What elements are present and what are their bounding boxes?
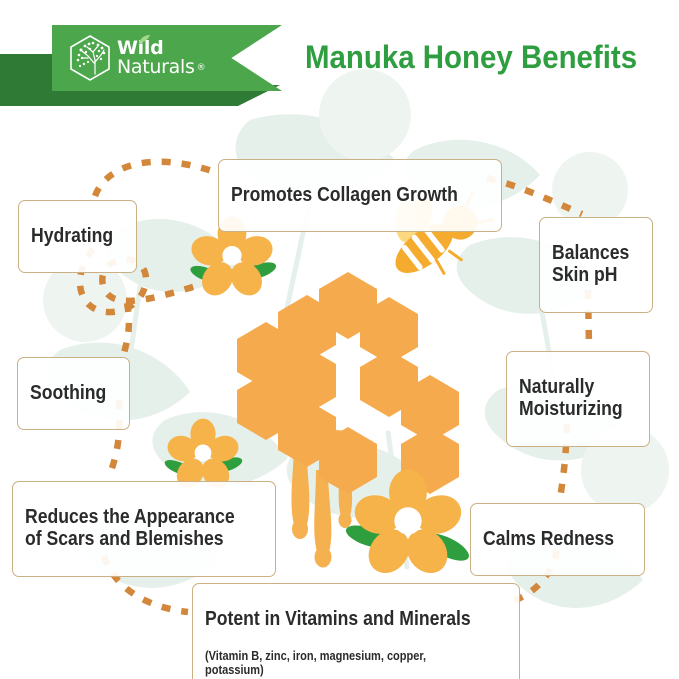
brand-line-2: Naturals: [117, 58, 195, 77]
benefit-label: Hydrating: [31, 225, 113, 247]
benefit-label: Naturally Moisturizing: [519, 376, 623, 421]
benefit-reduces-scars[interactable]: Reduces the Appearance of Scars and Blem…: [12, 481, 276, 577]
brand-wordmark: Wild Naturals ®: [117, 39, 195, 77]
page-title: Manuka Honey Benefits: [305, 39, 637, 76]
leaf-accent-icon: [139, 35, 150, 43]
benefit-label: Soothing: [30, 382, 106, 404]
infographic-canvas: Wild Naturals ® Manuka Honey Benefits Hy…: [0, 0, 679, 679]
brand-banner[interactable]: Wild Naturals ®: [52, 25, 282, 91]
brand-logo[interactable]: Wild Naturals ®: [52, 34, 195, 82]
hexagon-tree-icon: [68, 34, 112, 82]
connector-soothing-to-scars: [124, 303, 129, 353]
flower-icon: [343, 469, 472, 581]
benefit-vitamins-minerals[interactable]: Potent in Vitamins and Minerals (Vitamin…: [192, 583, 520, 679]
benefit-calms-redness[interactable]: Calms Redness: [470, 503, 645, 576]
registered-trademark-icon: ®: [197, 64, 206, 73]
honey-drip-icon: [286, 429, 359, 567]
honeycomb-hexagons-icon: [237, 272, 459, 494]
benefit-label: Balances Skin pH: [552, 242, 629, 287]
benefit-label: Potent in Vitamins and Minerals: [205, 608, 471, 630]
benefit-label: Calms Redness: [483, 528, 614, 550]
connector-hydrating-to-collagen: [95, 162, 215, 196]
benefit-label: Reduces the Appearance of Scars and Blem…: [25, 506, 235, 551]
benefit-label: Promotes Collagen Growth: [231, 184, 458, 206]
benefit-naturally-moisturizing[interactable]: Naturally Moisturizing: [506, 351, 650, 447]
benefit-balances-skin-ph[interactable]: Balances Skin pH: [539, 217, 653, 313]
benefit-sublabel: (Vitamin B, zinc, iron, magnesium, coppe…: [205, 649, 471, 677]
benefit-soothing[interactable]: Soothing: [17, 357, 130, 430]
benefit-hydrating[interactable]: Hydrating: [18, 200, 137, 273]
benefit-collagen[interactable]: Promotes Collagen Growth: [218, 159, 502, 232]
header: Wild Naturals ® Manuka Honey Benefits: [0, 0, 679, 118]
